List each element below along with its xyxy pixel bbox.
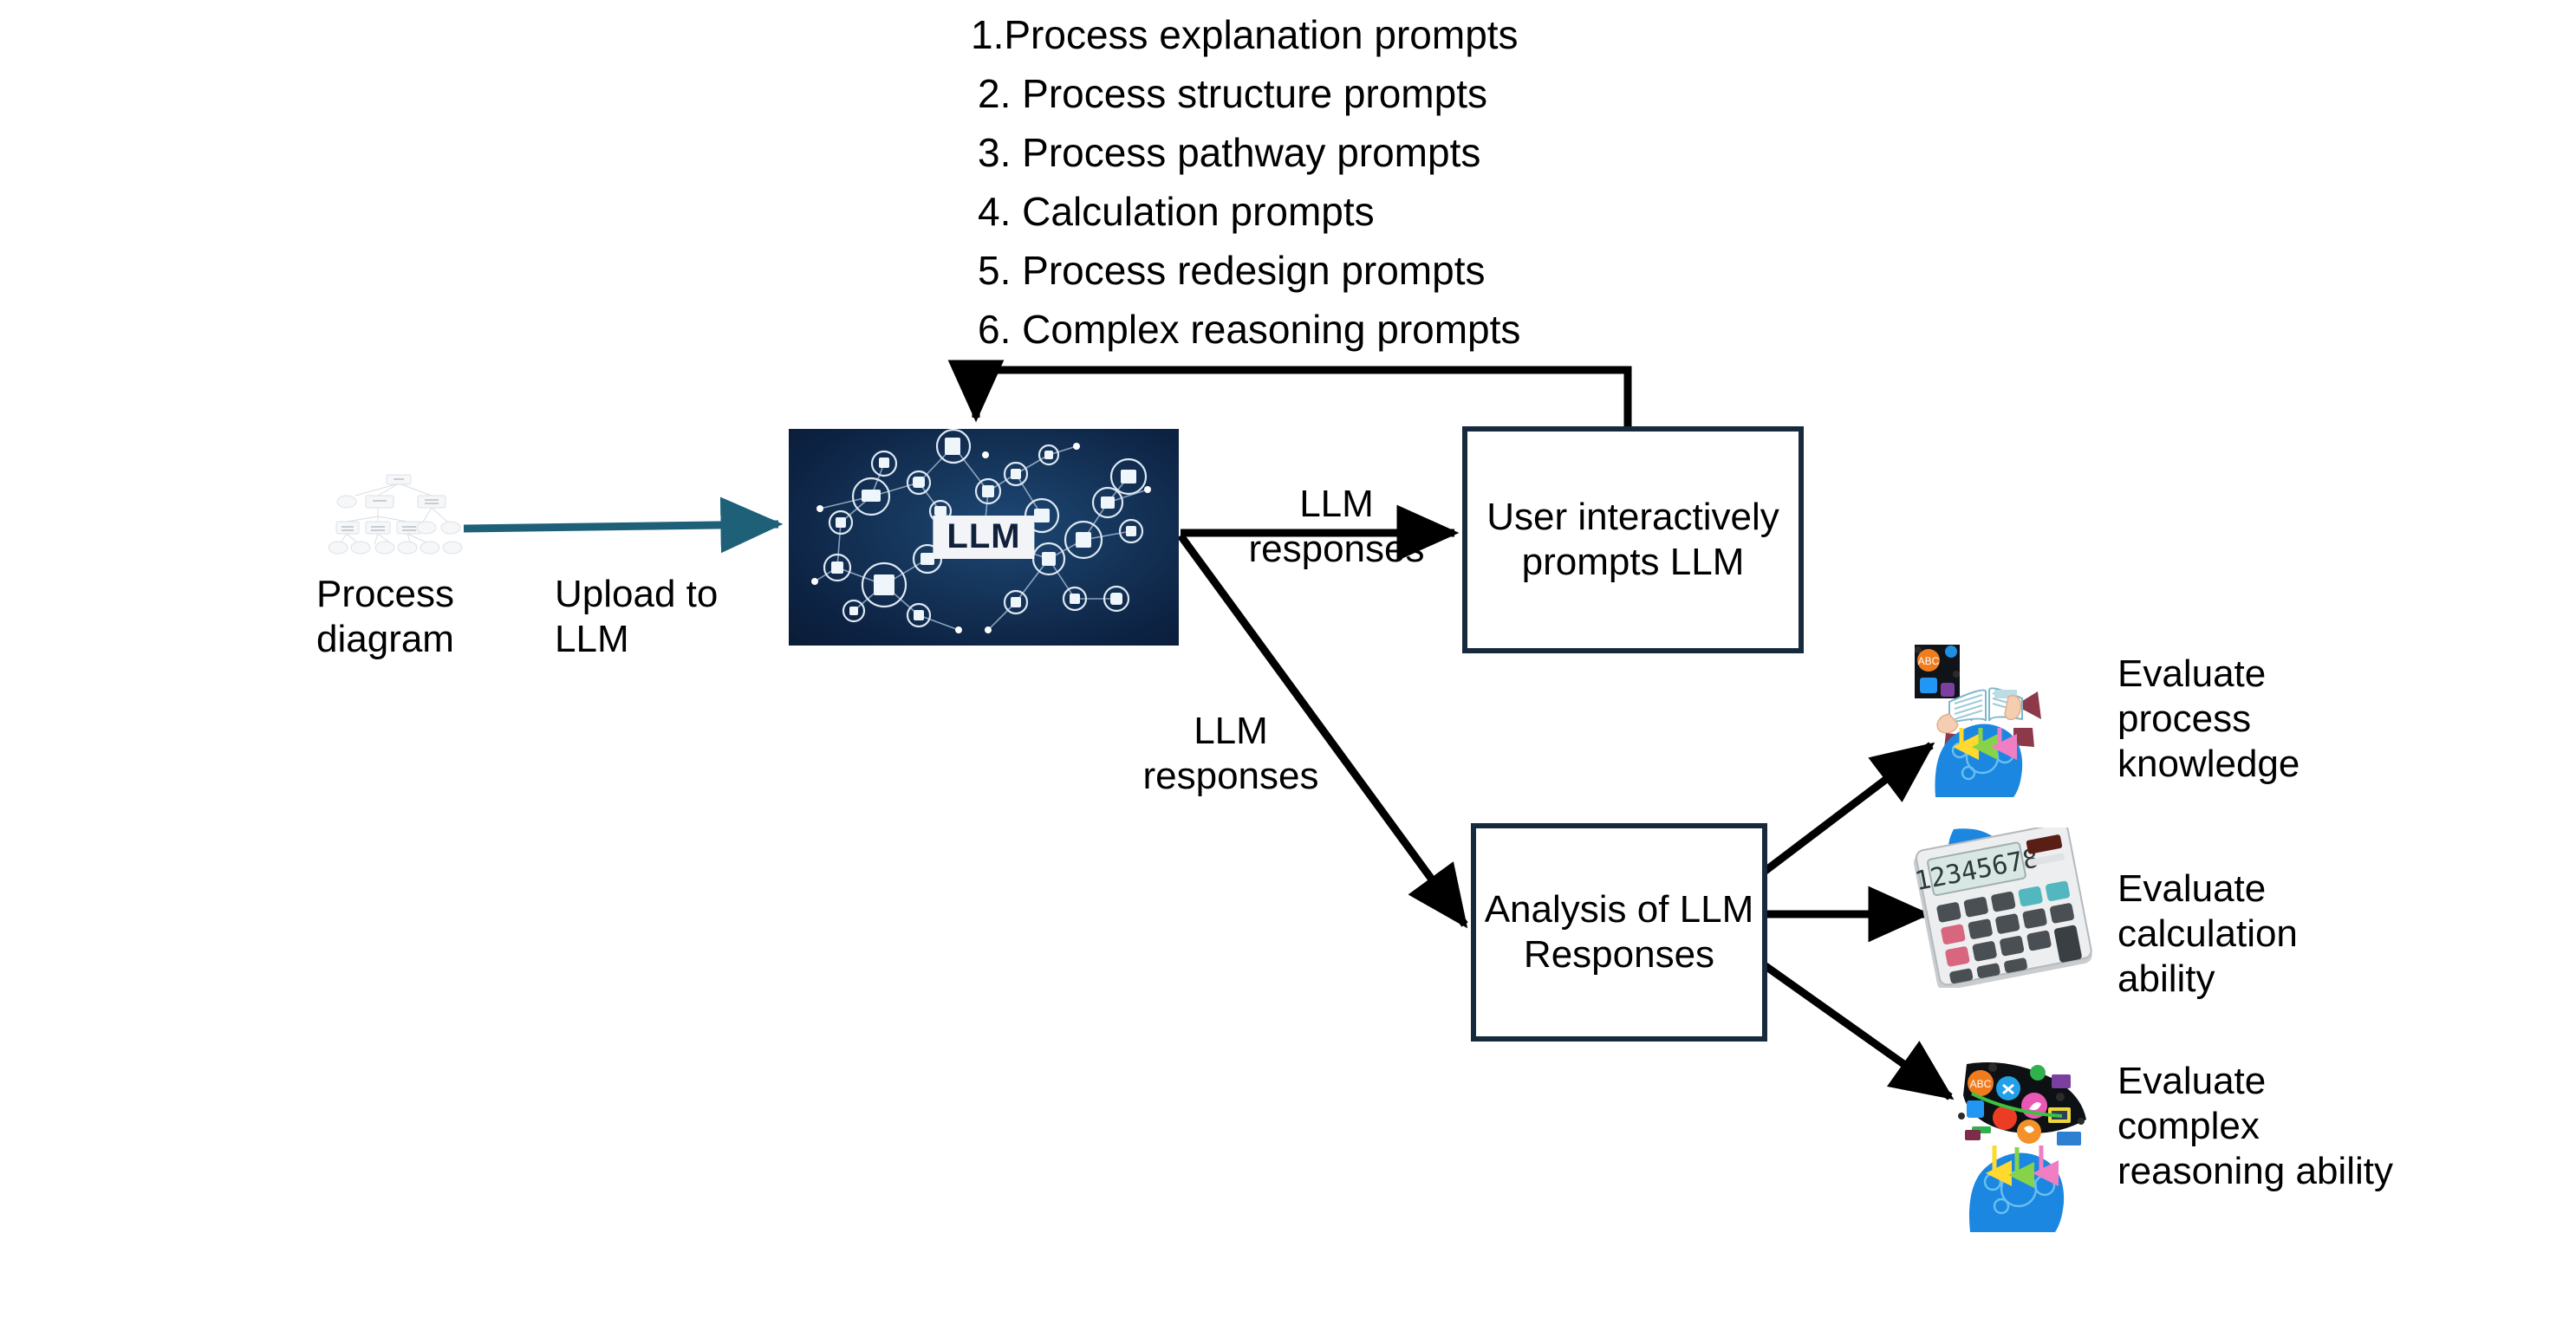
prompt-list-item: 6. Complex reasoning prompts [978, 300, 1758, 359]
book-brain-icon: ABC [1911, 641, 2059, 797]
prompt-list-item: 5. Process redesign prompts [978, 241, 1758, 300]
llm-network-image: LLM [789, 429, 1179, 646]
upload-to-llm-caption: Upload to LLM [555, 572, 754, 662]
prompt-type-list: 1.Process explanation prompts 2. Process… [978, 5, 1758, 359]
arrow-prompt-feedback-loop [976, 370, 1628, 426]
prompt-list-item: 2. Process structure prompts [978, 64, 1758, 123]
svg-text:ABC: ABC [1918, 655, 1940, 667]
user-interactive-prompt-box[interactable]: User interactively prompts LLM [1462, 426, 1804, 653]
analysis-of-llm-responses-box[interactable]: Analysis of LLM Responses [1471, 823, 1767, 1042]
prompt-list-item: 3. Process pathway prompts [978, 123, 1758, 182]
user-box-label: User interactively prompts LLM [1467, 495, 1799, 585]
arrow-upload-to-llm [464, 524, 778, 529]
calculator-icon: 12345678 [1905, 827, 2100, 988]
eval-label-process-knowledge: Evaluate process knowledge [2117, 652, 2404, 787]
llm-badge-label: LLM [933, 516, 1034, 559]
process-diagram-thumbnail [321, 468, 477, 563]
diagram-canvas: 1.Process explanation prompts 2. Process… [0, 0, 2576, 1324]
process-diagram-caption: Process diagram [316, 572, 507, 662]
edge-label-llm-responses-to-analysis: LLM responses [1127, 709, 1335, 799]
edge-label-llm-responses-to-user: LLM responses [1233, 482, 1441, 572]
eval-label-complex-reasoning-ability: Evaluate complex reasoning ability [2117, 1059, 2404, 1194]
complex-reasoning-brain-icon: ABC [1955, 1059, 2093, 1232]
prompt-list-item: 4. Calculation prompts [978, 182, 1758, 241]
analysis-box-label: Analysis of LLM Responses [1476, 887, 1762, 977]
svg-text:ABC: ABC [1970, 1078, 1992, 1090]
eval-label-calculation-ability: Evaluate calculation ability [2117, 866, 2404, 1002]
prompt-list-item: 1.Process explanation prompts [971, 5, 1758, 64]
